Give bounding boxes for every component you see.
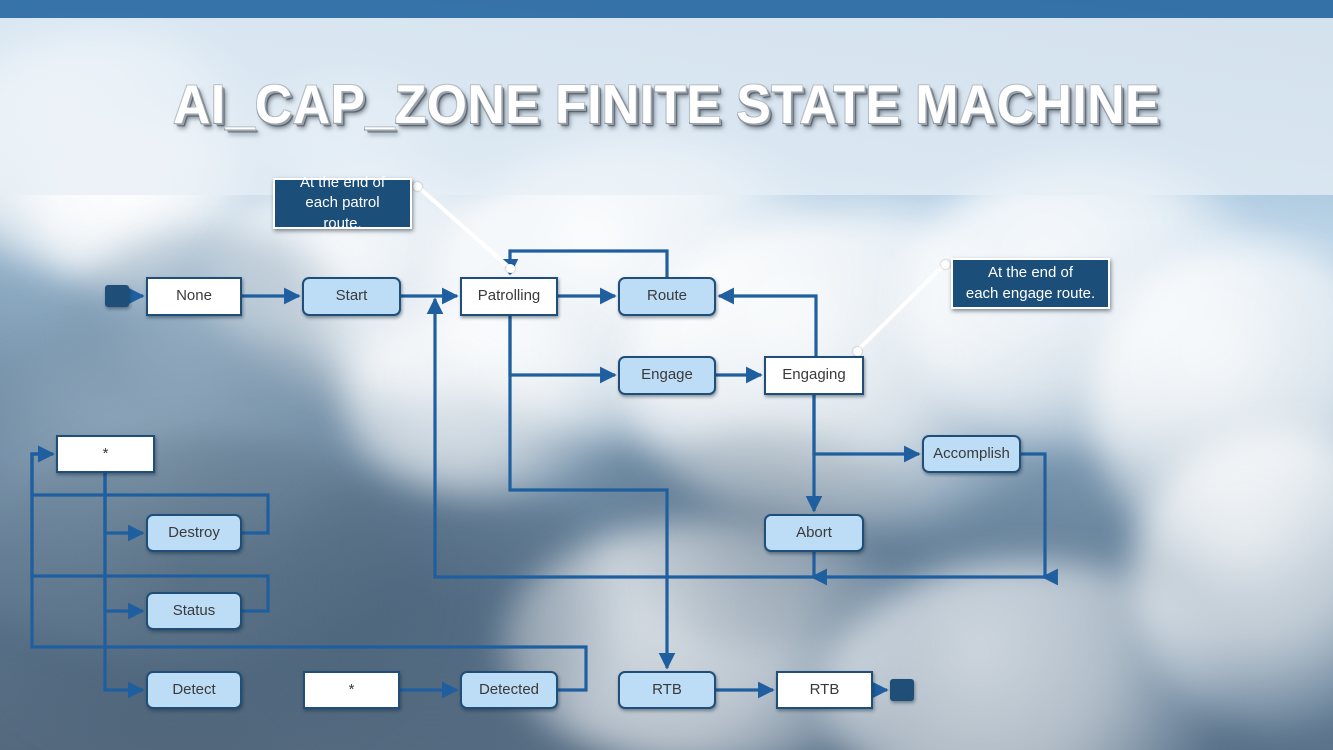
node-label: Engage [641,367,693,384]
node-label: Destroy [168,525,220,542]
node-label: Accomplish [933,446,1010,463]
action-node-status[interactable]: Status [146,592,242,630]
edge-route-patrolling [510,251,667,277]
slide-canvas: AI_CAP_ZONE FINITE STATE MACHINE [0,0,1333,750]
edge-detected-any1 [32,454,586,690]
node-label: Start [336,288,368,305]
state-node-engaging[interactable]: Engaging [764,356,864,395]
node-label: * [349,682,355,699]
edge-accomplish-return [1021,454,1045,577]
callout-engage-leader-dot-end [853,347,862,356]
state-node-any-2[interactable]: * [303,671,400,709]
action-node-abort[interactable]: Abort [764,514,864,552]
callout-engage-line-2: each engage route. [966,284,1095,304]
node-label: None [176,288,212,305]
action-node-start[interactable]: Start [302,277,401,316]
edge-any1-detect [105,473,143,690]
action-node-accomplish[interactable]: Accomplish [922,435,1021,473]
node-label: * [103,446,109,463]
node-label: Engaging [782,367,845,384]
edge-patrolling-engage [510,316,615,375]
node-label: Patrolling [478,288,541,305]
state-node-none[interactable]: None [146,277,242,316]
state-node-patrolling[interactable]: Patrolling [460,277,558,316]
node-label: Abort [796,525,832,542]
node-label: Detect [172,682,215,699]
callout-patrol-leader-dot-start [413,182,422,191]
callout-patrol-line-2: each patrol route. [285,193,400,234]
action-node-destroy[interactable]: Destroy [146,514,242,552]
state-node-any-1[interactable]: * [56,435,155,473]
start-marker [105,285,129,307]
callout-engage-leader-dot-start [941,260,950,269]
callout-patrol-leader-dot-end [506,264,515,273]
node-label: Status [173,603,216,620]
node-label: Route [647,288,687,305]
edge-any1-destroy [105,473,143,533]
action-node-engage[interactable]: Engage [618,356,716,395]
callout-patrol[interactable]: At the end of each patrol route. [273,178,412,229]
action-node-rtb[interactable]: RTB [618,671,716,709]
action-node-detected[interactable]: Detected [460,671,558,709]
callout-patrol-line-1: At the end of [285,173,400,193]
action-node-detect[interactable]: Detect [146,671,242,709]
edge-engaging-accomplish [814,395,919,454]
edge-abort-return [812,552,814,577]
state-node-rtb[interactable]: RTB [776,671,873,709]
callout-engage-line-1: At the end of [966,263,1095,283]
node-label: RTB [652,682,682,699]
callout-engage[interactable]: At the end of each engage route. [951,258,1110,309]
end-marker [890,679,914,701]
node-label: RTB [810,682,840,699]
node-label: Detected [479,682,539,699]
action-node-route[interactable]: Route [618,277,716,316]
